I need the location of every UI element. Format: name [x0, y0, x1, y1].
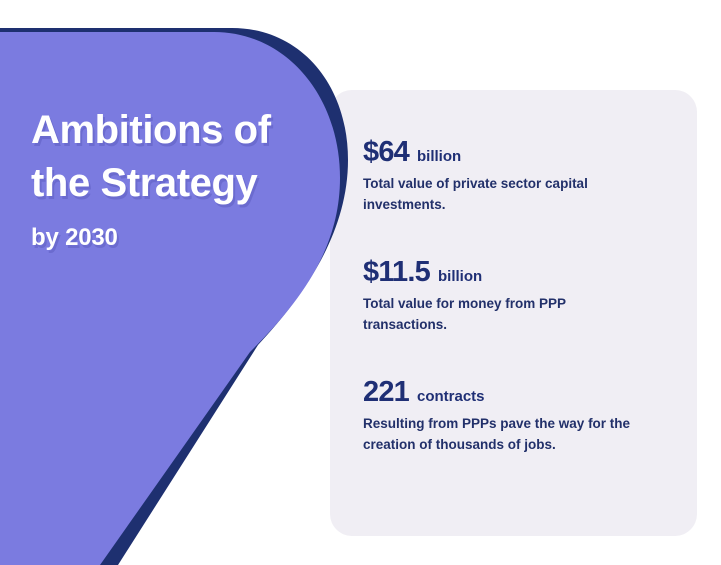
- stat-headline: $64 billion: [363, 138, 663, 167]
- statistics-list: $64 billion Total value of private secto…: [363, 138, 663, 456]
- page-subtitle: by 2030: [31, 224, 321, 252]
- stat-value: $64: [363, 138, 409, 167]
- stat-item: 221 contracts Resulting from PPPs pave t…: [363, 378, 663, 456]
- stat-unit: billion: [417, 149, 461, 164]
- stat-value: 221: [363, 378, 409, 407]
- stat-item: $11.5 billion Total value for money from…: [363, 258, 663, 336]
- stat-description: Total value for money from PPP transacti…: [363, 294, 635, 336]
- stat-description: Resulting from PPPs pave the way for the…: [363, 414, 635, 456]
- stat-unit: billion: [438, 269, 482, 284]
- title-block: Ambitions of the Strategy by 2030: [31, 104, 321, 252]
- stat-item: $64 billion Total value of private secto…: [363, 138, 663, 216]
- stat-headline: $11.5 billion: [363, 258, 663, 287]
- infographic-slide: Ambitions of the Strategy by 2030 $64 bi…: [0, 0, 721, 565]
- stat-description: Total value of private sector capital in…: [363, 174, 635, 216]
- stat-headline: 221 contracts: [363, 378, 663, 407]
- stat-value: $11.5: [363, 258, 430, 287]
- stat-unit: contracts: [417, 389, 485, 404]
- page-title-line-1: Ambitions of: [31, 104, 321, 157]
- page-title-line-2: the Strategy: [31, 157, 321, 210]
